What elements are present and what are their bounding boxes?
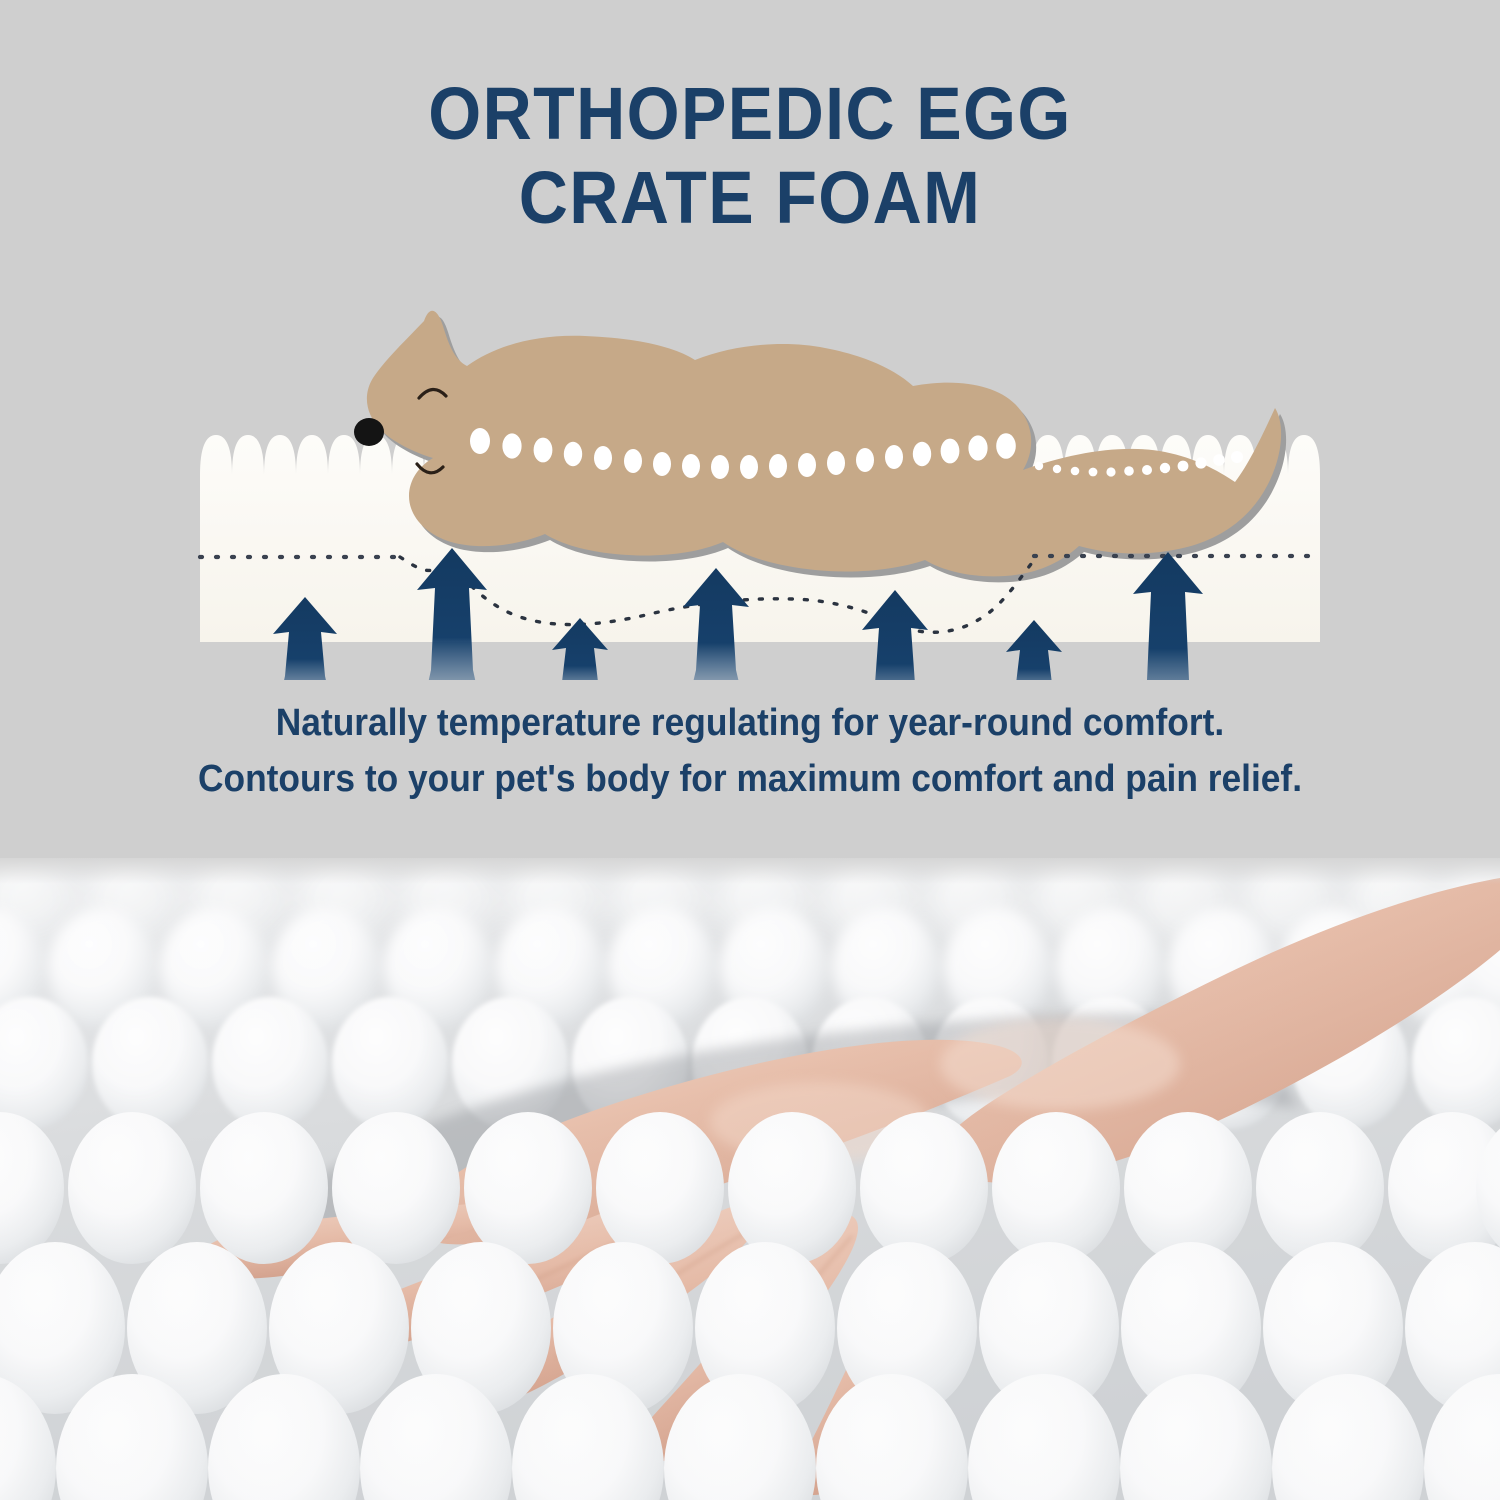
egg-crate-foam-photo bbox=[0, 858, 1500, 1500]
benefit-line-2: Contours to your pet's body for maximum … bbox=[53, 751, 1448, 807]
foam-cross-section-diagram bbox=[0, 280, 1500, 680]
dog-nose-icon bbox=[354, 418, 384, 446]
product-infographic: ORTHOPEDIC EGG CRATE FOAM bbox=[0, 0, 1500, 1500]
page-title: ORTHOPEDIC EGG CRATE FOAM bbox=[60, 72, 1440, 240]
benefit-line-1: Naturally temperature regulating for yea… bbox=[53, 695, 1448, 751]
info-panel: ORTHOPEDIC EGG CRATE FOAM bbox=[0, 0, 1500, 858]
benefit-copy: Naturally temperature regulating for yea… bbox=[53, 695, 1448, 807]
foam-photo-panel bbox=[0, 858, 1500, 1500]
